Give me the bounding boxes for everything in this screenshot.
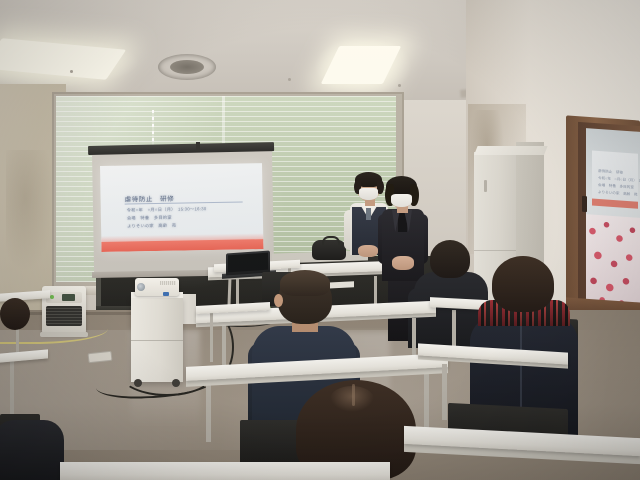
projector-vent-icon bbox=[160, 281, 176, 285]
cart-caster-icon bbox=[134, 379, 142, 387]
table-leg bbox=[210, 310, 213, 362]
projector-lens-icon bbox=[137, 283, 145, 291]
storage-cabinet-top bbox=[474, 146, 548, 155]
projected-slide: 虐待防止 研修 令和○年 ○月○日（月） 15:30〜16:30 会場 特養 多… bbox=[100, 163, 263, 252]
ceiling-fixture-dot bbox=[398, 84, 401, 87]
attendee-plaid-hood-head bbox=[492, 256, 554, 312]
window-latch-icon[interactable] bbox=[582, 196, 587, 212]
screen-mount-icon bbox=[196, 142, 200, 151]
attendee-left-foreground bbox=[0, 420, 64, 480]
photo-scene: 虐待防止 研修 令和○年 ○月○日（月） 15:30〜16:30 会場 特養 多… bbox=[0, 0, 640, 480]
ceiling-vent-inner bbox=[170, 60, 204, 74]
table-foreground bbox=[60, 462, 390, 480]
cart-drawer-seam bbox=[131, 340, 183, 341]
table-leg bbox=[222, 320, 226, 366]
face-mask-icon bbox=[391, 194, 412, 207]
attendee-navy-ear bbox=[274, 294, 283, 307]
heater-display bbox=[62, 294, 75, 301]
presenter-black-hands bbox=[392, 256, 414, 270]
bag-handle-icon bbox=[322, 236, 340, 245]
cart-caster-icon bbox=[172, 379, 180, 387]
floral-fabric bbox=[586, 214, 640, 308]
table-leg bbox=[206, 378, 211, 442]
table-leg bbox=[424, 374, 429, 434]
projector-cable-connector bbox=[163, 292, 169, 296]
wall-stain bbox=[6, 150, 54, 270]
attendee-left-edge bbox=[0, 298, 30, 330]
presenter-vest-hands bbox=[358, 245, 378, 257]
slide-line-1: 令和○年 ○月○日（月） 15:30〜16:30 bbox=[127, 206, 207, 213]
heater-power-led-icon bbox=[50, 295, 54, 299]
hair-part bbox=[352, 384, 355, 406]
face-mask-icon bbox=[359, 188, 378, 200]
cabinet-handle-icon[interactable] bbox=[484, 180, 487, 192]
slide-line-3: よりそいの家 高齢 苑 bbox=[127, 223, 176, 230]
cabinet-door-seam bbox=[474, 250, 516, 251]
ceiling-fixture-dot bbox=[70, 70, 73, 73]
table-leg bbox=[442, 364, 447, 420]
interior-window-glass: 虐待防止 研修 令和○年 ○月○日（月） 15:30〜16:30 会場 特養 多… bbox=[586, 128, 640, 308]
attendee-navy-hair bbox=[280, 270, 330, 296]
slide-line-2: 会場 特養 多目的室 bbox=[127, 215, 172, 222]
presenter-vest-tie bbox=[366, 208, 371, 220]
attendee-dark-jacket-head bbox=[430, 240, 470, 278]
presenter-vest-hair-side bbox=[377, 180, 384, 194]
projector-cart[interactable] bbox=[131, 296, 183, 382]
ceiling-fixture-dot bbox=[288, 78, 291, 81]
laptop-screen-bezel bbox=[228, 253, 268, 273]
